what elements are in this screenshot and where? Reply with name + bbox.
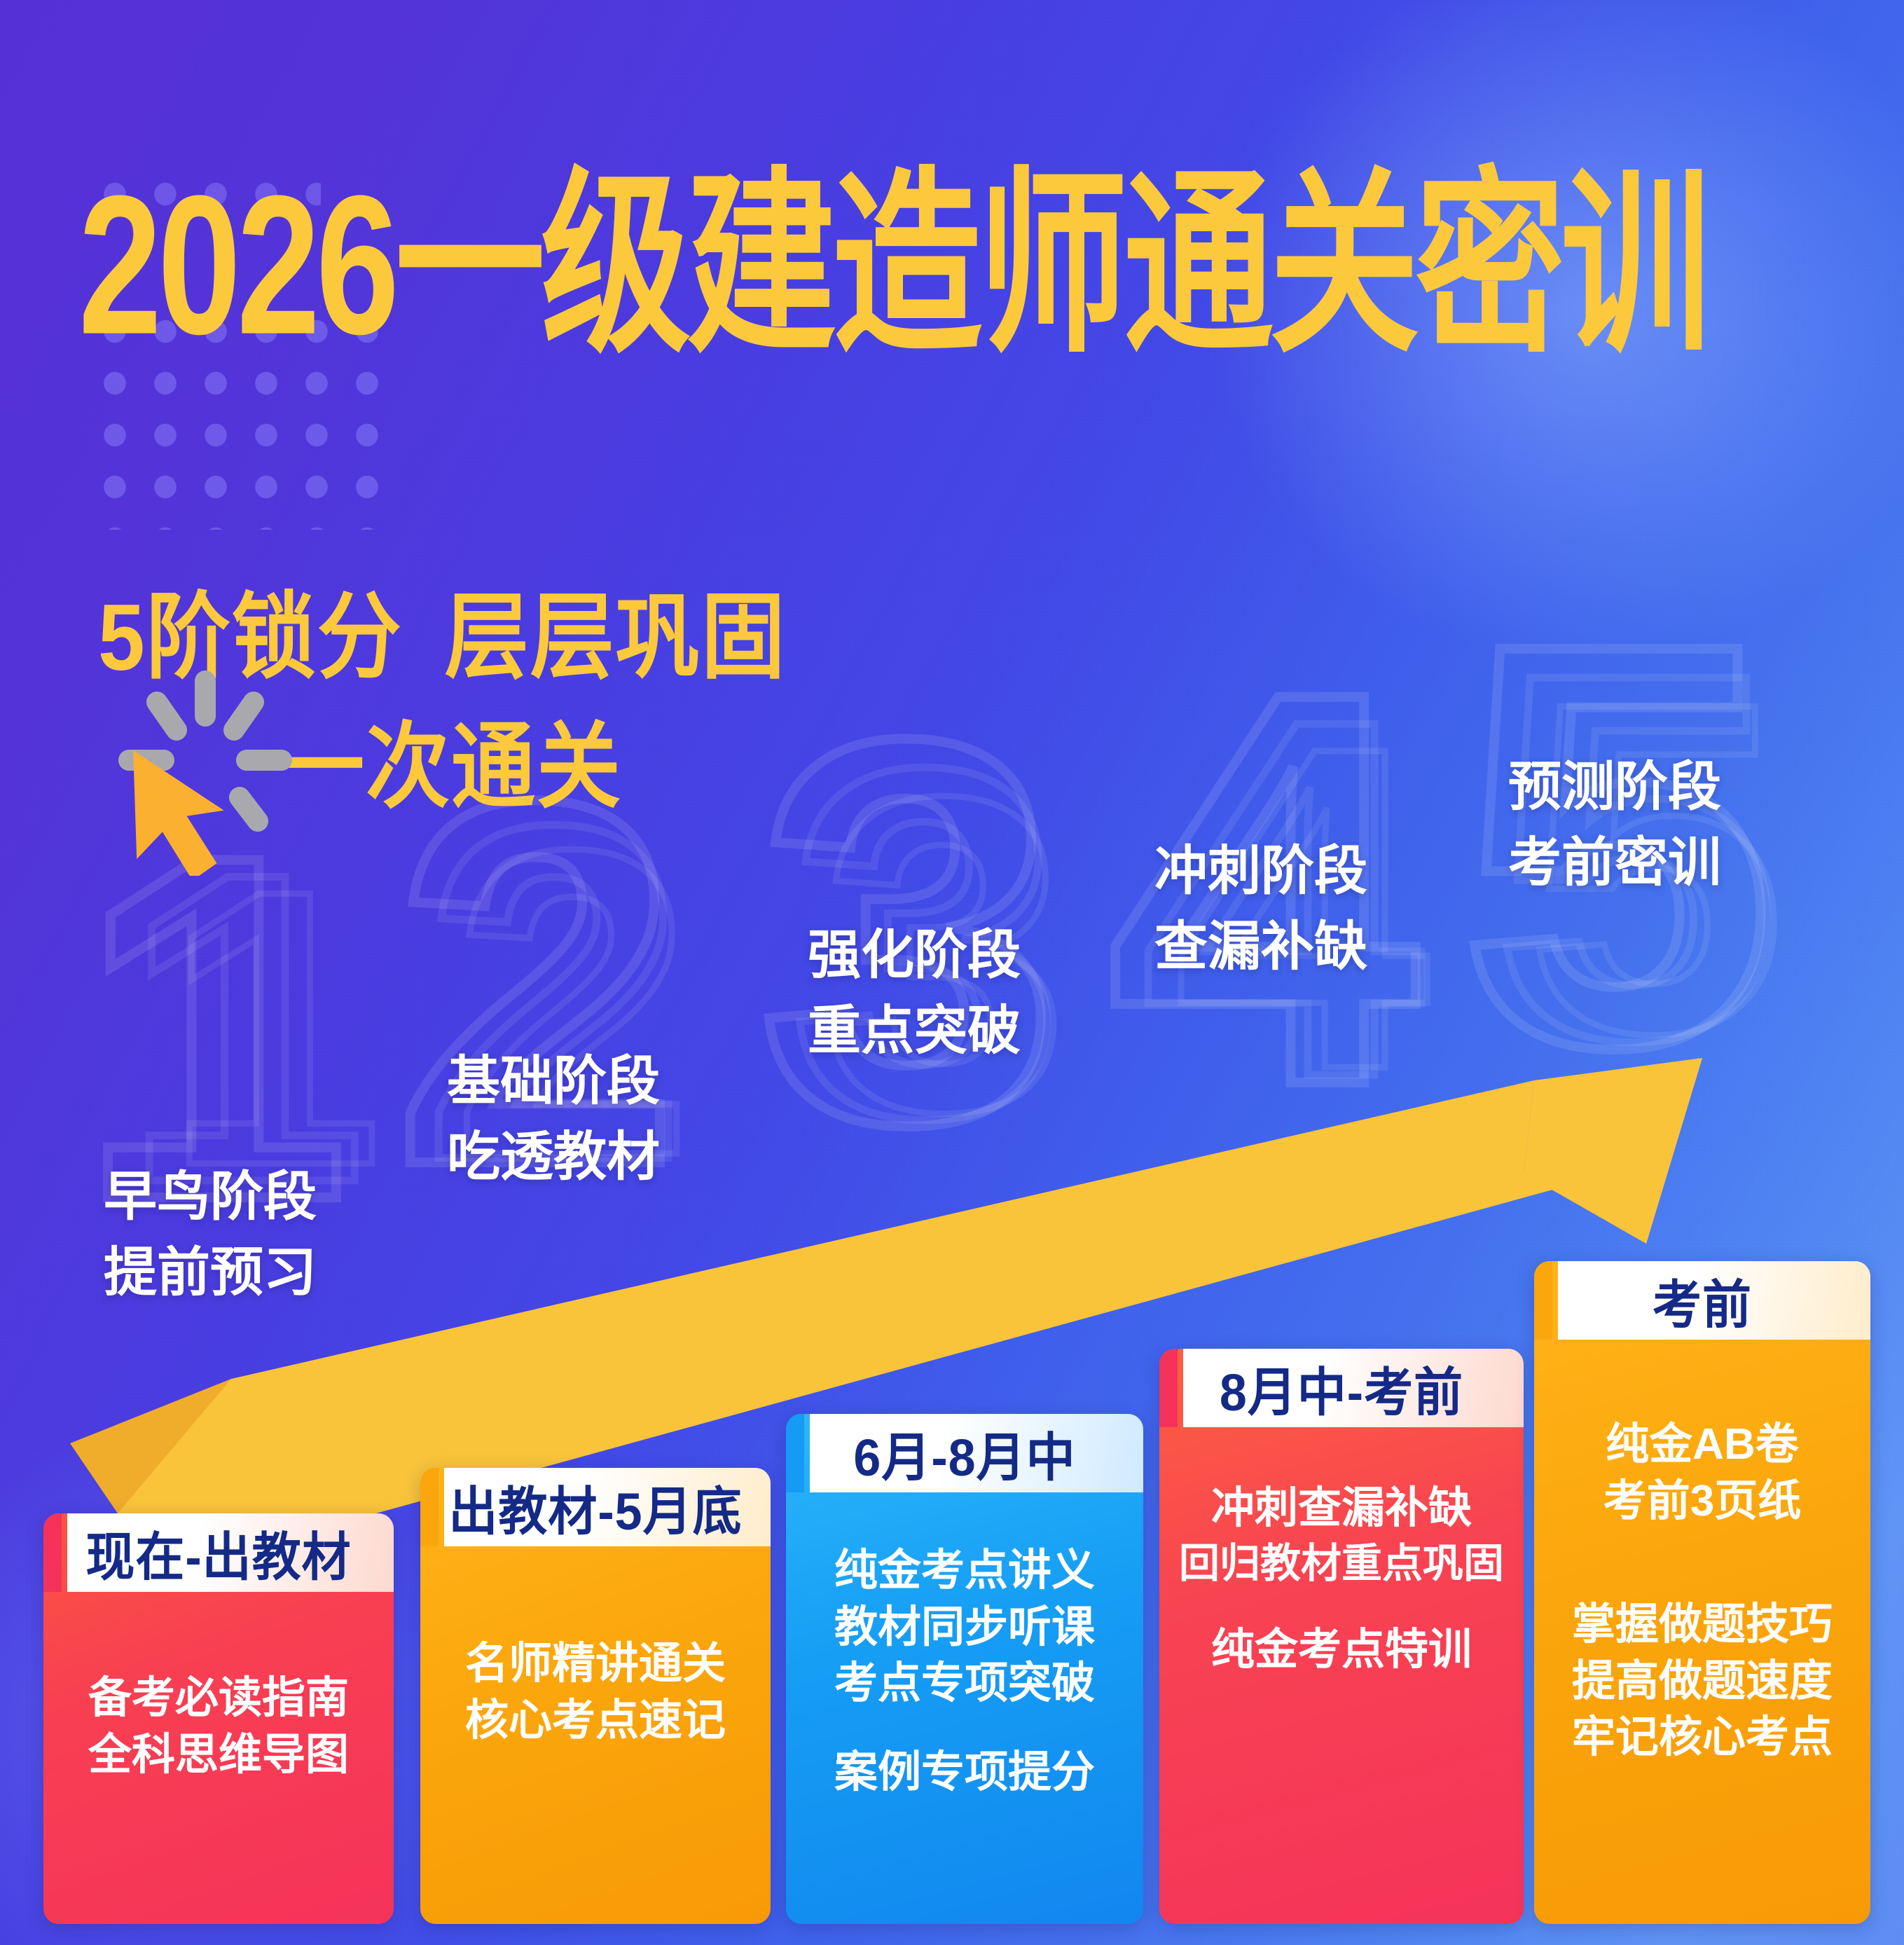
timeline-card-4[interactable]: 8月中-考前 冲刺查漏补缺 回归教材重点巩固 纯金考点特训: [1159, 1349, 1524, 1924]
timeline-card-5-header-label: 考前: [1653, 1263, 1752, 1338]
timeline-card-3-body: 纯金考点讲义 教材同步听课 考点专项突破 案例专项提分: [786, 1492, 1143, 1801]
stage-label-2: 基础阶段 吃透教材: [406, 1044, 701, 1195]
timeline-card-1-line-2: 全科思维导图: [88, 1727, 349, 1784]
timeline-card-5-accent-bar: [1534, 1261, 1552, 1340]
timeline-card-4-header-label: 8月中-考前: [1220, 1350, 1463, 1425]
timeline-card-2-header-label: 出教材-5月底: [448, 1469, 742, 1544]
promo-poster: 1 1 1 2 2 2 3 3 3 4 4 4 5 5 5 2026一级建造师通…: [0, 0, 1904, 1945]
timeline-card-5-line-4: 提高做题速度: [1572, 1654, 1833, 1710]
timeline-card-5-line-3: 掌握做题技巧: [1572, 1597, 1833, 1654]
timeline-card-3-line-2: 教材同步听课: [834, 1600, 1095, 1656]
timeline-card-3-line-4: 案例专项提分: [834, 1745, 1095, 1801]
timeline-card-1-header-label: 现在-出教材: [85, 1515, 351, 1590]
stage-label-1-line2: 提前预习: [63, 1235, 357, 1311]
timeline-card-3-header: 6月-8月中: [786, 1414, 1143, 1492]
stage-label-2-line2: 吃透教材: [406, 1120, 701, 1195]
timeline-card-4-accent-bar: [1159, 1349, 1178, 1427]
timeline-card-5-body: 纯金AB卷 考前3页纸 掌握做题技巧 提高做题速度 牢记核心考点: [1534, 1340, 1870, 1766]
timeline-card-3-line-3: 考点专项突破: [834, 1656, 1095, 1712]
timeline-card-2-line-2: 核心考点速记: [465, 1693, 726, 1750]
timeline-card-2-accent-bar: [420, 1468, 439, 1546]
timeline-card-4-line-2: 回归教材重点巩固: [1179, 1537, 1504, 1590]
timeline-card-3-header-label: 6月-8月中: [853, 1415, 1075, 1490]
timeline-card-3-accent-bar: [786, 1414, 804, 1492]
page-title: 2026一级建造师通关密训: [78, 167, 1706, 364]
timeline-card-4-body: 冲刺查漏补缺 回归教材重点巩固 纯金考点特训: [1159, 1427, 1524, 1679]
timeline-card-1-line-1: 备考必读指南: [88, 1670, 349, 1727]
stage-label-3-line1: 强化阶段: [767, 918, 1061, 994]
timeline-card-5-line-5: 牢记核心考点: [1572, 1710, 1833, 1766]
timeline-card-2[interactable]: 出教材-5月底 名师精讲通关 核心考点速记: [420, 1468, 771, 1924]
subtitle-line-2: 一次通关: [280, 690, 622, 827]
click-cursor-icon: [90, 652, 321, 876]
background-number-1-inner: 1: [121, 847, 366, 1209]
stage-label-4-line2: 查漏补缺: [1114, 909, 1408, 985]
timeline-card-4-line-3: 纯金考点特训: [1211, 1622, 1472, 1679]
background-glow-top-right: [1063, 0, 1904, 799]
stage-label-5-line2: 考前密训: [1468, 825, 1762, 901]
timeline-card-2-header: 出教材-5月底: [420, 1468, 771, 1546]
stage-label-1: 早鸟阶段 提前预习: [63, 1160, 357, 1311]
timeline-card-1-header: 现在-出教材: [43, 1513, 394, 1592]
timeline-card-1-body: 备考必读指南 全科思维导图: [43, 1592, 394, 1783]
stage-label-3-line2: 重点突破: [767, 994, 1061, 1069]
timeline-card-3-line-1: 纯金考点讲义: [834, 1543, 1095, 1600]
timeline-card-4-line-1: 冲刺查漏补缺: [1211, 1480, 1472, 1537]
timeline-card-2-body: 名师精讲通关 核心考点速记: [420, 1546, 771, 1749]
timeline-card-4-header: 8月中-考前: [1159, 1349, 1524, 1427]
timeline-card-1-accent-bar: [43, 1513, 62, 1592]
stage-label-1-line1: 早鸟阶段: [63, 1160, 357, 1235]
stage-label-4: 冲刺阶段 查漏补缺: [1114, 834, 1408, 985]
timeline-card-3[interactable]: 6月-8月中 纯金考点讲义 教材同步听课 考点专项突破 案例专项提分: [786, 1414, 1143, 1924]
timeline-card-1[interactable]: 现在-出教材 备考必读指南 全科思维导图: [43, 1513, 394, 1924]
timeline-card-2-line-1: 名师精讲通关: [465, 1636, 726, 1693]
stage-label-5-line1: 预测阶段: [1468, 750, 1762, 825]
timeline-card-5[interactable]: 考前 纯金AB卷 考前3页纸 掌握做题技巧 提高做题速度 牢记核心考点: [1534, 1261, 1870, 1924]
background-number-1-inner2: 1: [165, 867, 382, 1188]
subtitle-part-b: 层层巩固: [445, 585, 787, 690]
stage-label-3: 强化阶段 重点突破: [767, 918, 1061, 1069]
timeline-card-5-header: 考前: [1534, 1261, 1870, 1340]
stage-label-2-line1: 基础阶段: [406, 1044, 701, 1120]
stage-label-4-line1: 冲刺阶段: [1114, 834, 1408, 909]
timeline-card-5-line-2: 考前3页纸: [1603, 1473, 1801, 1530]
timeline-card-5-line-1: 纯金AB卷: [1606, 1417, 1799, 1473]
stage-label-5: 预测阶段 考前密训: [1468, 750, 1762, 901]
